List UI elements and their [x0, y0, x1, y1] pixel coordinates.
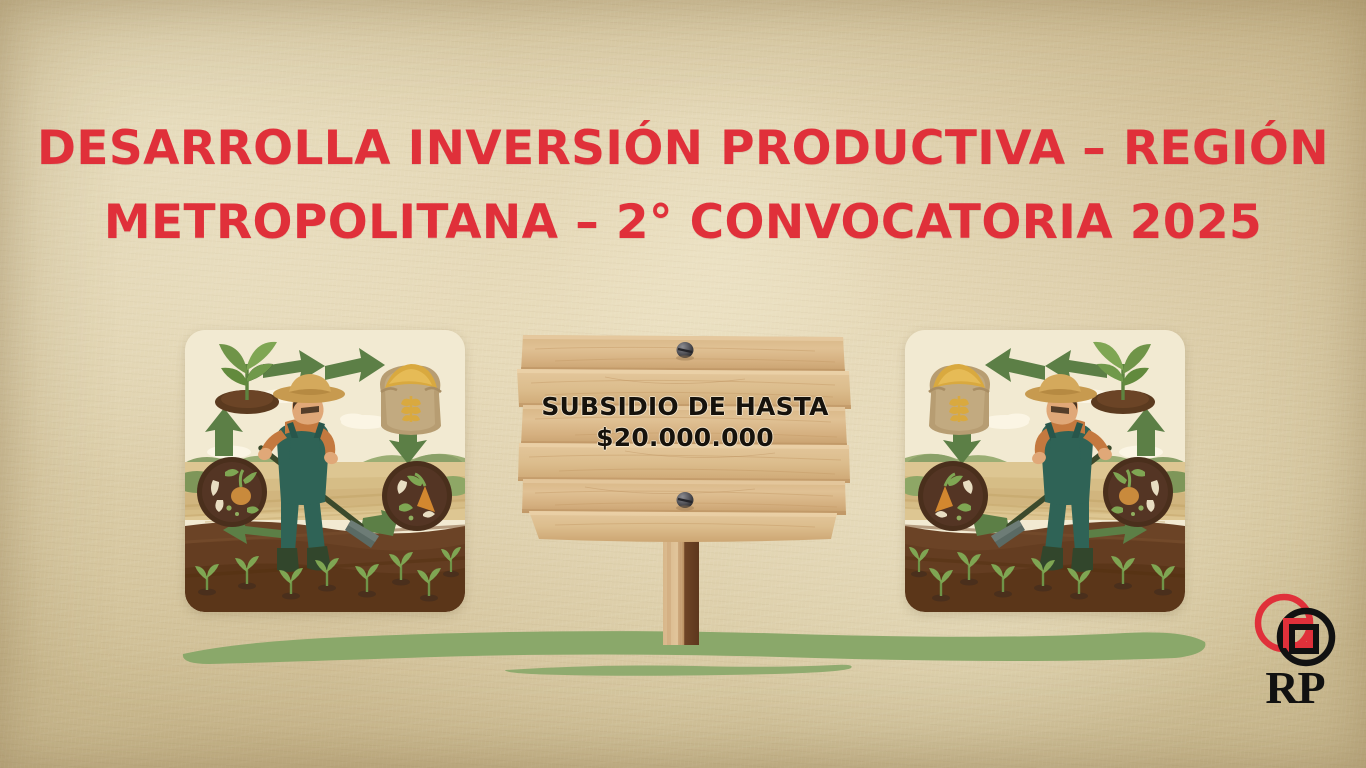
farmer-crop-cycle-illustration — [185, 330, 465, 612]
rp-monogram-text: RP — [1265, 662, 1324, 710]
title-line-1: DESARROLLA INVERSIÓN PRODUCTIVA – REGIÓN — [0, 112, 1366, 186]
illustration-right-inner — [905, 330, 1185, 612]
illustration-left-inner — [185, 330, 465, 612]
title-line-2: METROPOLITANA – 2° CONVOCATORIA 2025 — [0, 186, 1366, 260]
rp-logo-mark: RP — [1240, 585, 1350, 710]
wooden-sign-graphic — [515, 325, 855, 645]
rp-logo: RP — [1240, 585, 1350, 710]
illustration-card-right — [905, 330, 1185, 612]
illustration-card-left — [185, 330, 465, 612]
poster-canvas: DESARROLLA INVERSIÓN PRODUCTIVA – REGIÓN… — [0, 0, 1366, 768]
poster-title: DESARROLLA INVERSIÓN PRODUCTIVA – REGIÓN… — [0, 112, 1366, 260]
farmer-crop-cycle-illustration-mirrored — [905, 330, 1185, 612]
wooden-sign: SUBSIDIO DE HASTA $20.000.000 — [515, 325, 855, 645]
